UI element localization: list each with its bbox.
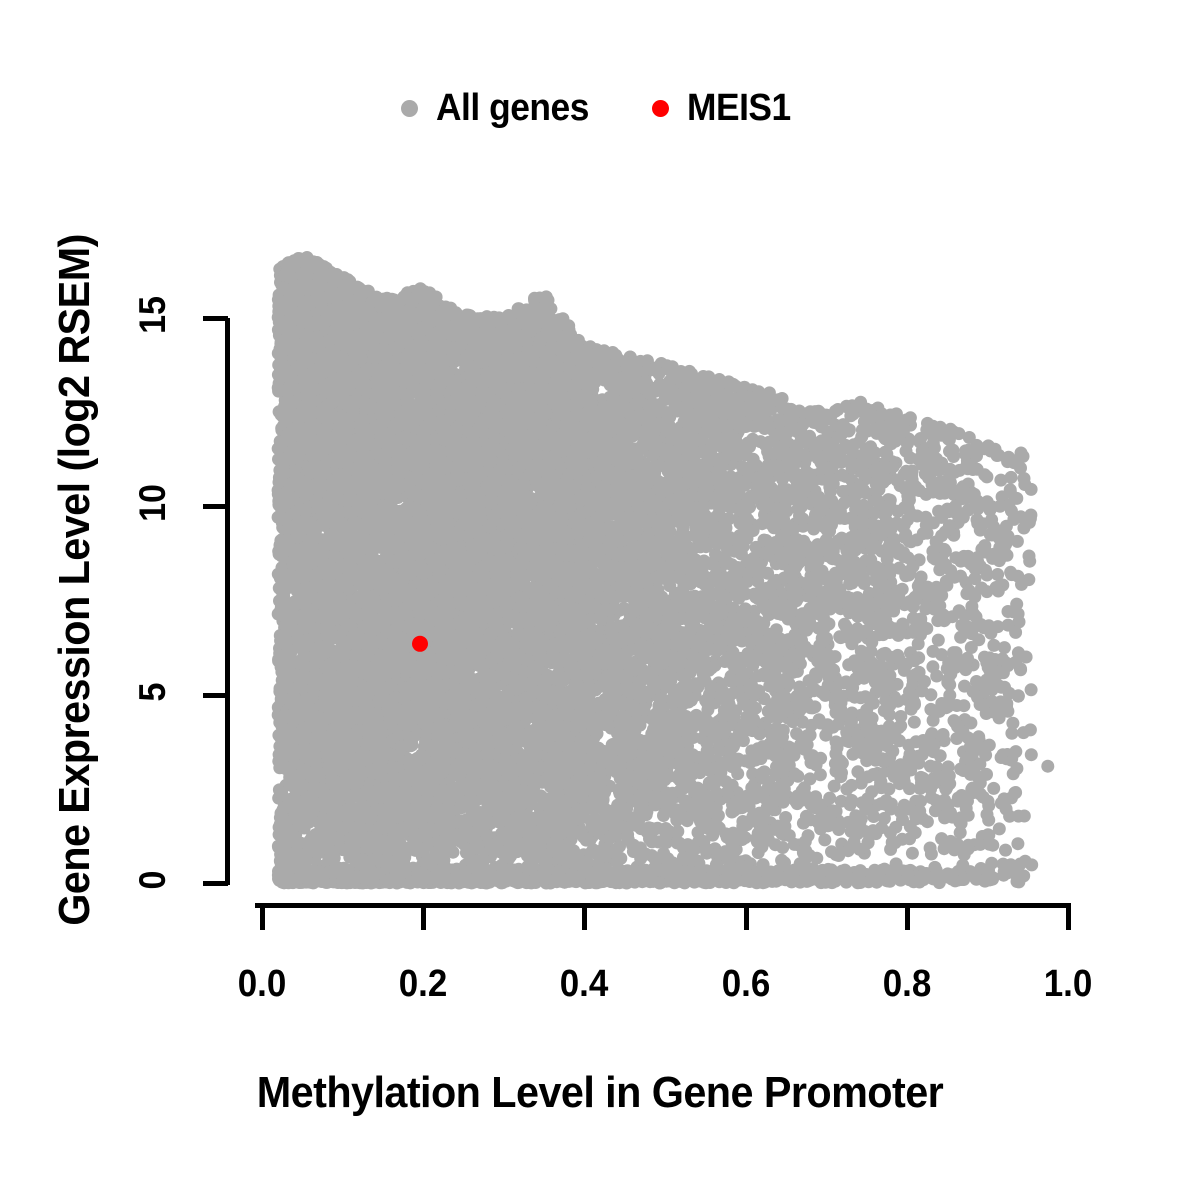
legend-marker-all-genes-icon	[401, 100, 418, 117]
x-tick-mark	[744, 903, 749, 930]
data-point-meis1	[412, 636, 428, 652]
x-tick-label: 0.8	[856, 963, 957, 1006]
x-tick-label: 0.2	[373, 963, 474, 1006]
x-tick-mark	[1066, 903, 1071, 930]
x-axis-title: Methylation Level in Gene Promoter	[36, 1068, 1164, 1118]
legend-entry-meis1: MEIS1	[652, 87, 799, 130]
data-point-outlier	[1041, 760, 1054, 773]
x-tick-mark	[421, 903, 426, 930]
x-tick-label: 0.6	[695, 963, 796, 1006]
y-axis-line	[225, 318, 230, 885]
y-tick-mark	[203, 504, 228, 509]
x-axis-line	[255, 903, 1068, 908]
y-tick-label: 10	[132, 471, 174, 535]
x-tick-mark	[260, 903, 265, 930]
data-points-layer	[228, 240, 1068, 890]
legend-label-all-genes: All genes	[436, 87, 589, 130]
x-tick-mark	[582, 903, 587, 930]
legend-entry-all-genes: All genes	[401, 87, 600, 130]
y-tick-mark	[203, 316, 228, 321]
legend-label-meis1: MEIS1	[687, 87, 791, 130]
scatter-plot-figure: All genes MEIS1 051015 Gene Expression L…	[0, 0, 1200, 1200]
legend: All genes MEIS1	[0, 78, 1200, 138]
y-tick-label: 15	[132, 283, 174, 347]
y-tick-mark	[203, 693, 228, 698]
y-tick-label: 5	[132, 659, 174, 723]
x-tick-mark	[905, 903, 910, 930]
y-tick-label: 0	[132, 848, 174, 912]
x-tick-label: 0.4	[534, 963, 635, 1006]
x-tick-label: 1.0	[1017, 963, 1118, 1006]
x-tick-label: 0.0	[211, 963, 312, 1006]
legend-marker-meis1-icon	[652, 100, 669, 117]
plot-panel	[228, 240, 1068, 890]
y-axis-title: Gene Expression Level (log2 RSEM)	[50, 176, 100, 984]
y-tick-mark	[203, 881, 228, 886]
